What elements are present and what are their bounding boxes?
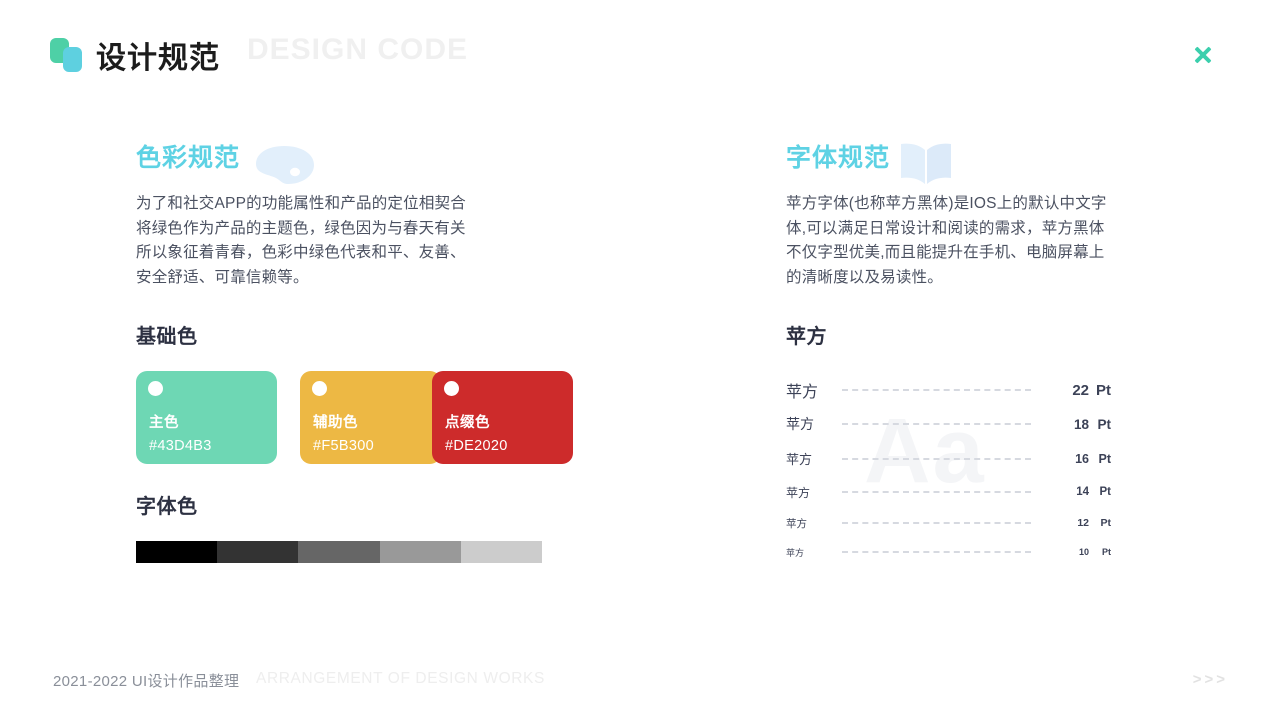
leader-line bbox=[842, 389, 1031, 391]
paragraph-line: 的清晰度以及易读性。 bbox=[786, 266, 1146, 291]
footer-text: 2021-2022 UI设计作品整理 bbox=[53, 670, 239, 691]
font-size-value: 12 bbox=[1043, 517, 1089, 529]
font-sample-label: 苹方 bbox=[786, 378, 830, 402]
page-title-english: DESIGN CODE bbox=[247, 33, 468, 67]
grayscale-segment bbox=[298, 541, 379, 563]
color-section-paragraph: 为了和社交APP的功能属性和产品的定位相契合 将绿色作为产品的主题色，绿色因为与… bbox=[136, 192, 556, 290]
color-swatch-secondary[interactable]: 辅助色 #F5B300 bbox=[300, 371, 441, 464]
chevron-right-icon: > bbox=[1193, 672, 1202, 687]
font-size-row: 苹方 10 Pt bbox=[786, 538, 1111, 566]
font-section-paragraph: 苹方字体(也称苹方黑体)是IOS上的默认中文字 体,可以满足日常设计和阅读的需求… bbox=[786, 192, 1146, 290]
footer-text-english: ARRANGEMENT OF DESIGN WORKS bbox=[256, 670, 545, 688]
leader-line bbox=[842, 522, 1031, 524]
font-size-row: 苹方 18 Pt bbox=[786, 407, 1111, 441]
leader-line bbox=[842, 551, 1031, 553]
page-title: 设计规范 bbox=[96, 33, 220, 77]
paragraph-line: 为了和社交APP的功能属性和产品的定位相契合 bbox=[136, 192, 556, 217]
font-section-title: 字体规范 bbox=[786, 138, 890, 174]
chevron-right-icon: > bbox=[1216, 672, 1225, 687]
palette-icon bbox=[254, 144, 316, 191]
font-size-unit: Pt bbox=[1089, 547, 1111, 557]
paragraph-line: 安全舒适、可靠信赖等。 bbox=[136, 266, 556, 291]
chevron-right-icon-group: > > > bbox=[1193, 672, 1225, 687]
color-spec-column: 色彩规范 为了和社交APP的功能属性和产品的定位相契合 将绿色作为产品的主题色，… bbox=[136, 130, 556, 563]
logo-square-cyan bbox=[63, 47, 82, 72]
font-size-unit: Pt bbox=[1089, 417, 1111, 432]
swatch-hex-value: #43D4B3 bbox=[149, 438, 212, 454]
paragraph-line: 体,可以满足日常设计和阅读的需求，苹方黑体 bbox=[786, 217, 1146, 242]
font-size-list: Aa 苹方 22 Pt 苹方 18 Pt 苹方 16 Pt 苹方 bbox=[786, 373, 1111, 566]
grayscale-bar bbox=[136, 541, 542, 563]
paragraph-line: 所以象征着青春，色彩中绿色代表和平、友善、 bbox=[136, 241, 556, 266]
swatch-label: 主色 bbox=[149, 411, 179, 432]
font-size-row: 苹方 12 Pt bbox=[786, 508, 1111, 538]
close-icon[interactable] bbox=[1192, 44, 1214, 66]
font-sample-label: 苹方 bbox=[786, 484, 830, 501]
font-size-unit: Pt bbox=[1089, 486, 1111, 498]
font-size-unit: Pt bbox=[1089, 382, 1111, 399]
page-footer: 2021-2022 UI设计作品整理 ARRANGEMENT OF DESIGN… bbox=[0, 650, 1280, 720]
paragraph-line: 不仅字型优美,而且能提升在手机、电脑屏幕上 bbox=[786, 241, 1146, 266]
font-size-unit: Pt bbox=[1089, 452, 1111, 466]
font-size-unit: Pt bbox=[1089, 517, 1111, 529]
swatch-hex-value: #DE2020 bbox=[445, 438, 508, 454]
leader-line bbox=[842, 458, 1031, 460]
font-section-header: 字体规范 bbox=[786, 130, 1146, 192]
font-family-subheading: 苹方 bbox=[786, 320, 1146, 349]
leader-line bbox=[842, 423, 1031, 425]
base-color-subheading: 基础色 bbox=[136, 320, 556, 349]
font-size-value: 10 bbox=[1043, 547, 1089, 557]
font-size-value: 22 bbox=[1043, 382, 1089, 399]
color-swatch-accent[interactable]: 点缀色 #DE2020 bbox=[432, 371, 573, 464]
grayscale-segment bbox=[461, 541, 542, 563]
swatch-label: 点缀色 bbox=[445, 411, 490, 432]
swatch-hex-value: #F5B300 bbox=[313, 438, 374, 454]
color-section-header: 色彩规范 bbox=[136, 130, 556, 192]
font-sample-label: 苹方 bbox=[786, 449, 830, 468]
color-swatch-row: 主色 #43D4B3 辅助色 #F5B300 点缀色 #DE2020 bbox=[136, 371, 556, 464]
font-spec-column: 字体规范 苹方字体(也称苹方黑体)是IOS上的默认中文字 体,可以满足日常设计和… bbox=[786, 130, 1146, 566]
page-header: 设计规范 DESIGN CODE bbox=[0, 0, 1280, 100]
font-color-subheading: 字体色 bbox=[136, 490, 556, 519]
color-swatch-primary[interactable]: 主色 #43D4B3 bbox=[136, 371, 277, 464]
swatch-label: 辅助色 bbox=[313, 411, 358, 432]
swatch-dot-icon bbox=[148, 381, 163, 396]
paragraph-line: 将绿色作为产品的主题色，绿色因为与春天有关 bbox=[136, 217, 556, 242]
grayscale-segment bbox=[380, 541, 461, 563]
font-size-value: 16 bbox=[1043, 452, 1089, 466]
color-section-title: 色彩规范 bbox=[136, 138, 240, 174]
leader-line bbox=[842, 491, 1031, 493]
font-size-row: 苹方 16 Pt bbox=[786, 441, 1111, 476]
open-book-icon bbox=[898, 140, 954, 191]
font-size-row: 苹方 22 Pt bbox=[786, 373, 1111, 407]
grayscale-segment bbox=[217, 541, 298, 563]
font-sample-label: 苹方 bbox=[786, 516, 830, 531]
font-sample-label: 苹方 bbox=[786, 414, 830, 434]
font-size-row: 苹方 14 Pt bbox=[786, 476, 1111, 508]
two-rounded-squares-logo-icon bbox=[50, 38, 84, 72]
design-spec-page: 设计规范 DESIGN CODE 色彩规范 为了和社交APP的功能属性和产品的定… bbox=[0, 0, 1280, 720]
grayscale-segment bbox=[136, 541, 217, 563]
font-size-value: 14 bbox=[1043, 486, 1089, 498]
swatch-dot-icon bbox=[444, 381, 459, 396]
chevron-right-icon: > bbox=[1204, 672, 1213, 687]
font-size-value: 18 bbox=[1043, 417, 1089, 432]
font-sample-label: 苹方 bbox=[786, 546, 830, 559]
swatch-dot-icon bbox=[312, 381, 327, 396]
paragraph-line: 苹方字体(也称苹方黑体)是IOS上的默认中文字 bbox=[786, 192, 1146, 217]
